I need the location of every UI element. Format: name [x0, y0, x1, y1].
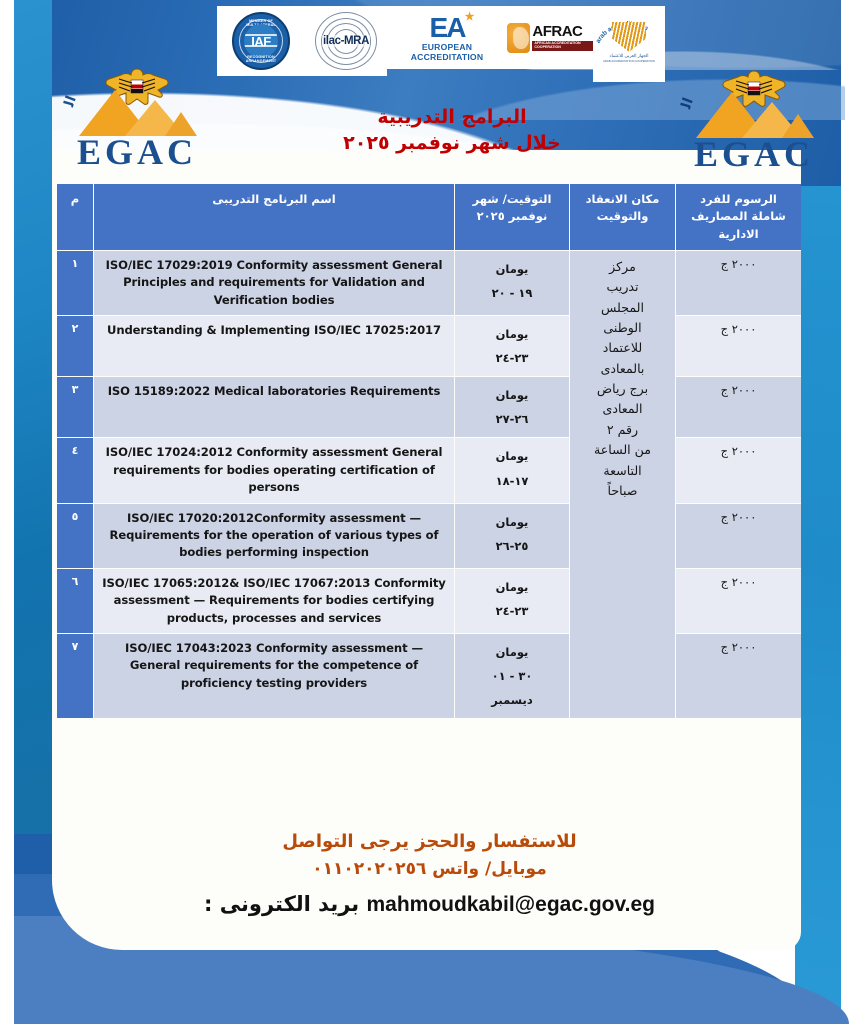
cell-row-number: ٥: [57, 504, 93, 568]
ea-label: EA: [430, 12, 465, 43]
col-header-time: التوقيت/ شهر نوفمبر ٢٠٢٥: [455, 184, 569, 250]
cell-row-number: ٢: [57, 316, 93, 376]
poster-title: البرامج التدريبية خلال شهر نوفمبر ٢٠٢٥: [262, 105, 642, 156]
col-header-fee: الرسوم للفرد شاملة المصاريف الادارية: [676, 184, 801, 250]
cell-fee: ٢٠٠٠ ج: [676, 316, 801, 376]
cell-time: يومان ٢٣-٢٤: [455, 316, 569, 376]
col-header-place-l1: مكان الانعقاد: [574, 191, 671, 208]
time-duration: يومان: [460, 322, 564, 346]
cell-program-name: ISO/IEC 17043:2023 Conformity assessment…: [94, 634, 454, 718]
time-duration: يومان: [460, 640, 564, 664]
cell-program-name: ISO/IEC 17065:2012& ISO/IEC 17067:2013 C…: [94, 569, 454, 633]
time-dates: ٢٦-٢٧: [460, 407, 564, 431]
cell-row-number: ٤: [57, 438, 93, 502]
venue-l3: الوطنى: [575, 318, 670, 338]
arab-arabic-sub-label: ARAB ACCREDITATION COOPERATION: [603, 59, 655, 63]
time-extra: ديسمبر: [460, 688, 564, 712]
cell-program-name: ISO 15189:2022 Medical laboratories Requ…: [94, 377, 454, 437]
cell-program-name: ISO/IEC 17029:2019 Conformity assessment…: [94, 251, 454, 315]
cell-time: يومان ٢٣-٢٤: [455, 569, 569, 633]
schedule-table: الرسوم للفرد شاملة المصاريف الادارية مكا…: [56, 183, 802, 719]
time-dates: ٢٥-٢٦: [460, 534, 564, 558]
title-line-2: خلال شهر نوفمبر ٢٠٢٥: [262, 131, 642, 157]
cell-venue-merged: مركز تدريب المجلس الوطنى للاعتماد بالمعا…: [570, 251, 675, 719]
afrac-badge: AFRAC AFRICAN ACCREDITATION COOPERATION: [507, 6, 593, 69]
col-header-program-name: اسم البرنامج التدريبى: [94, 184, 454, 250]
ea-sub1-label: EUROPEAN: [422, 43, 472, 52]
cell-program-name: ISO/IEC 17024:2012 Conformity assessment…: [94, 438, 454, 502]
iaf-ring-bottom-label: RECOGNITION ARRANGEMENT: [234, 55, 288, 63]
table-row: ٢٠٠٠ ج يومان ٣٠ - ٠١ ديسمبر ISO/IEC 1704…: [57, 634, 801, 718]
ilac-rings-icon: ilac-MRA: [313, 10, 379, 72]
footer-line-1: للاستفسار والحجز يرجى التواصل: [57, 828, 802, 856]
afrac-label: AFRAC: [532, 24, 593, 39]
col-header-fee-l3: الادارية: [680, 226, 797, 243]
egac-wordmark-right: EGAC: [679, 136, 829, 172]
afrac-africa-icon: [507, 23, 530, 53]
pyramids-icon-left: [77, 90, 197, 138]
col-header-number: م: [57, 184, 93, 250]
cell-row-number: ١: [57, 251, 93, 315]
egac-wordmark-left: EGAC: [62, 134, 212, 170]
ilac-mra-label: ilac-MRA: [322, 35, 370, 47]
time-duration: يومان: [460, 444, 564, 468]
time-dates: ٣٠ - ٠١: [460, 664, 564, 688]
cell-fee: ٢٠٠٠ ج: [676, 438, 801, 502]
venue-l0: مركز: [575, 257, 670, 277]
col-header-fee-l2: شاملة المصاريف: [680, 208, 797, 225]
venue-l9: من الساعة: [575, 440, 670, 460]
venue-l11: صباحاً: [575, 481, 670, 501]
egac-logo-right: المجلس الوطنى للاعتماد EGAC: [679, 42, 829, 170]
iaf-seal-icon: MEMBER OF MULTILATERAL IAF RECOGNITION A…: [232, 12, 290, 70]
ilac-mra-badge: ilac-MRA: [305, 6, 387, 76]
schedule-table-wrapper: الرسوم للفرد شاملة المصاريف الادارية مكا…: [57, 183, 802, 719]
cell-fee: ٢٠٠٠ ج: [676, 504, 801, 568]
cell-program-name: ISO/IEC 17020:2012Conformity assessment …: [94, 504, 454, 568]
left-cyan-strip: [14, 0, 52, 1024]
cell-fee: ٢٠٠٠ ج: [676, 377, 801, 437]
venue-l4: للاعتماد: [575, 338, 670, 358]
cell-row-number: ٣: [57, 377, 93, 437]
venue-l1: تدريب: [575, 277, 670, 297]
col-header-place-l2: والتوقيت: [574, 208, 671, 225]
cell-time: يومان ٣٠ - ٠١ ديسمبر: [455, 634, 569, 718]
poster-page: MEMBER OF MULTILATERAL IAF RECOGNITION A…: [0, 0, 853, 1024]
ea-sub2-label: ACCREDITATION: [411, 53, 483, 62]
col-header-time-l1: التوقيت/ شهر: [459, 191, 565, 208]
time-duration: يومان: [460, 383, 564, 407]
venue-l5: بالمعادى: [575, 359, 670, 379]
table-row: ٢٠٠٠ ج يومان ٢٣-٢٤ ISO/IEC 17065:2012& I…: [57, 569, 801, 633]
title-line-1: البرامج التدريبية: [262, 105, 642, 131]
footer-line-3: mahmoudkabil@egac.gov.eg بريد الكترونى :: [57, 887, 802, 923]
time-duration: يومان: [460, 257, 564, 281]
table-row: ٢٠٠٠ ج يومان ٢٦-٢٧ ISO 15189:2022 Medica…: [57, 377, 801, 437]
time-dates: ٢٣-٢٤: [460, 599, 564, 623]
venue-l2: المجلس: [575, 298, 670, 318]
egac-logo-left: المجلس الوطنى للاعتماد EGAC: [62, 40, 212, 168]
cell-row-number: ٦: [57, 569, 93, 633]
col-header-fee-l1: الرسوم للفرد: [680, 191, 797, 208]
venue-l6: برج رياض: [575, 379, 670, 399]
time-duration: يومان: [460, 575, 564, 599]
venue-l7: المعادى: [575, 399, 670, 419]
pyramids-icon-right: [694, 92, 814, 140]
cell-program-name: Understanding & Implementing ISO/IEC 170…: [94, 316, 454, 376]
accreditation-badges: MEMBER OF MULTILATERAL IAF RECOGNITION A…: [217, 6, 665, 82]
ea-star-icon: ★: [465, 12, 473, 23]
poster-header: MEMBER OF MULTILATERAL IAF RECOGNITION A…: [52, 0, 841, 186]
contact-email[interactable]: mahmoudkabil@egac.gov.eg: [366, 887, 654, 923]
cell-time: يومان ٢٥-٢٦: [455, 504, 569, 568]
footer-line-2: موبايل/ واتس ٠١١٠٢٠٢٠٢٥٦: [57, 856, 802, 883]
contact-footer: للاستفسار والحجز يرجى التواصل موبايل/ وا…: [57, 828, 802, 923]
table-row: ٢٠٠٠ ج يومان ٢٥-٢٦ ISO/IEC 17020:2012Con…: [57, 504, 801, 568]
cell-time: يومان ٢٦-٢٧: [455, 377, 569, 437]
cell-fee: ٢٠٠٠ ج: [676, 569, 801, 633]
table-header-row: الرسوم للفرد شاملة المصاريف الادارية مكا…: [57, 184, 801, 250]
ea-logo-label: EA ★: [428, 14, 467, 42]
contact-email-label: بريد الكترونى :: [204, 892, 359, 916]
time-dates: ١٧-١٨: [460, 469, 564, 493]
cell-fee: ٢٠٠٠ ج: [676, 251, 801, 315]
iaf-label: IAF: [251, 34, 270, 49]
table-row: ٢٠٠٠ ج يومان ٢٣-٢٤ Understanding & Imple…: [57, 316, 801, 376]
afrac-sub-label: AFRICAN ACCREDITATION COOPERATION: [532, 41, 593, 50]
cell-fee: ٢٠٠٠ ج: [676, 634, 801, 718]
iaf-badge: MEMBER OF MULTILATERAL IAF RECOGNITION A…: [217, 6, 305, 76]
time-dates: ١٩ - ٢٠: [460, 281, 564, 305]
time-dates: ٢٣-٢٤: [460, 346, 564, 370]
iaf-globe-icon: IAF: [244, 24, 278, 58]
cell-time: يومان ١٧-١٨: [455, 438, 569, 502]
time-duration: يومان: [460, 510, 564, 534]
table-row: ٢٠٠٠ ج مركز تدريب المجلس الوطنى للاعتماد…: [57, 251, 801, 315]
col-header-time-l2: نوفمبر ٢٠٢٥: [459, 208, 565, 225]
ea-badge: EA ★ EUROPEAN ACCREDITATION: [387, 6, 507, 69]
venue-l8: رقم ٢: [575, 420, 670, 440]
venue-l10: التاسعة: [575, 461, 670, 481]
cell-time: يومان ١٩ - ٢٠: [455, 251, 569, 315]
table-row: ٢٠٠٠ ج يومان ١٧-١٨ ISO/IEC 17024:2012 Co…: [57, 438, 801, 502]
col-header-place: مكان الانعقاد والتوقيت: [570, 184, 675, 250]
cell-row-number: ٧: [57, 634, 93, 718]
arab-accreditation-badge: arab accreditation الجهاز العربى للاعتما…: [593, 6, 665, 82]
